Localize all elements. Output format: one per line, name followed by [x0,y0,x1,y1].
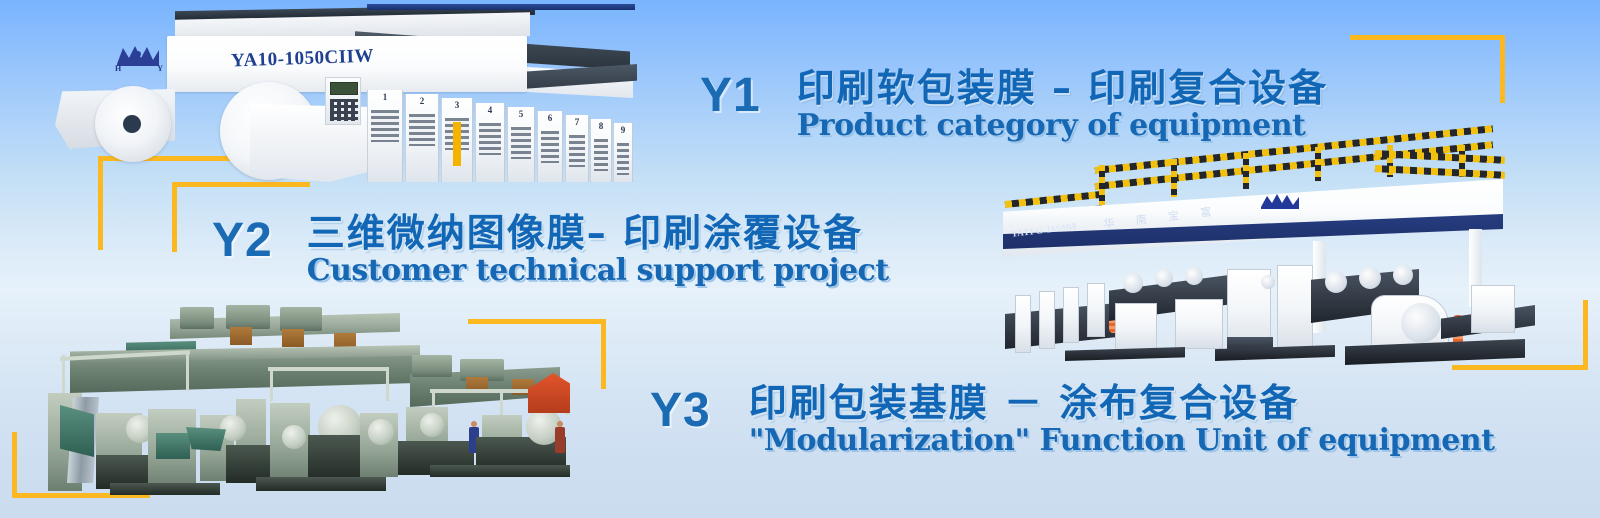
unit-panel [511,127,531,159]
entry-titles-y3: 印刷包装基膜 － 涂布复合设备 "Modularization" Functio… [749,381,1495,457]
line-guide-roller [1123,273,1143,293]
line-cabinet [1277,265,1313,351]
line3-hood [226,305,270,329]
line3-rail-post [500,389,503,415]
line3-coating-pan [156,433,190,459]
entry-title-en-y1: Product category of equipment [797,110,1328,142]
machine-gravure-printing-press: H Y YA10-1050CIIW 1 2 3 4 5 6 7 8 9 [55,4,630,179]
unit-number: 9 [614,125,632,135]
unit-number: 4 [476,105,504,115]
unit-panel [409,114,435,146]
railing-post [1171,159,1177,197]
line3-base [256,477,386,491]
press-colour-unit: 2 [405,94,439,182]
line-rewind-roll [1401,303,1441,343]
entry-title-cn-y3: 印刷包装基膜 － 涂布复合设备 [749,381,1495,425]
press-colour-unit: 8 [590,119,612,182]
unit-panel [569,135,585,167]
press-colour-unit: 9 [613,123,633,182]
unit-number: 8 [591,121,611,131]
line3-coating-pan [186,427,226,451]
line-nip-roller [1359,267,1381,289]
press-blue-stripe [367,4,635,10]
entry-title-cn-y2: 三维微纳图像膜– 印刷涂覆设备 [307,211,889,255]
line3-hood [280,307,322,331]
railing-post [1315,147,1321,181]
hy-brand-letters: H Y [115,64,163,73]
entry-title-en-y3: "Modularization" Function Unit of equipm… [749,425,1495,457]
line3-base [110,483,220,495]
brand-letter-h: H [115,64,121,73]
console-display [330,82,358,95]
machine-coating-laminating-line: YATFG-1650BⅡ 华 南 宝 富 [975,145,1520,370]
line3-catwalk-rail [268,367,388,371]
press-colour-unit: 7 [565,115,589,182]
press-colour-unit: 6 [537,111,563,182]
railing-post [1099,165,1105,205]
railing-post [1243,153,1249,189]
line-cabinet [1087,283,1105,337]
machine-base-film-coating-line [30,305,575,500]
press-colour-unit: 4 [475,103,505,182]
entry-code-y3: Y3 [650,385,711,437]
press-unwind-roll-rear [95,86,171,162]
entry-row-y2: Y2 三维微纳图像膜– 印刷涂覆设备 Customer technical su… [212,215,889,287]
entry-row-y3: Y3 印刷包装基膜 － 涂布复合设备 "Modularization" Func… [650,385,1494,457]
hy-brand-logo-icon [1260,192,1300,210]
line-applicator-roller [1261,275,1275,289]
unit-panel [594,139,608,171]
line-cabinet [1175,299,1223,349]
unit-number: 3 [442,100,472,110]
line-guide-roller [1155,269,1173,287]
unit-panel [617,143,629,175]
brand-letter-y: Y [157,64,163,73]
line3-base [430,465,570,477]
unit-number: 2 [406,96,438,106]
line3-roller [282,425,306,449]
entry-row-y1: Y1 印刷软包装膜 – 印刷复合设备 Product category of e… [700,70,1328,142]
bracket-top-right [1350,35,1505,103]
line3-hood [412,355,452,377]
entry-code-y2: Y2 [212,215,273,267]
line3-rail-post [386,367,389,401]
line-cabinet [1015,295,1031,353]
line3-heater-element [230,327,252,345]
operator-body [555,427,565,453]
line3-roller [368,419,394,445]
line-nip-roller [1325,271,1347,293]
unit-number: 7 [566,117,588,127]
entry-title-cn-y1: 印刷软包装膜 – 印刷复合设备 [797,66,1328,110]
press-colour-unit: 5 [507,107,535,182]
line3-rail-post [270,367,273,401]
line-outfeed-cabinet [1471,285,1515,333]
line-process-section [1005,241,1505,369]
promo-banner: H Y YA10-1050CIIW 1 2 3 4 5 6 7 8 9 [0,0,1600,518]
press-control-console [325,77,361,125]
press-colour-unit: 1 [367,90,403,182]
press-colour-unit-group: 1 2 3 4 5 6 7 8 9 [367,90,635,182]
line3-operator-figure [554,421,566,455]
line3-rail-post [62,355,65,393]
line-machine-base [1065,347,1185,361]
line3-roller [420,413,444,437]
entry-titles-y1: 印刷软包装膜 – 印刷复合设备 Product category of equi… [797,66,1328,142]
unit-number: 6 [538,113,562,123]
line-nip-roller [1393,265,1413,285]
line3-rail-post [186,351,189,391]
line-cabinet [1063,287,1079,343]
unit-number: 5 [508,109,534,119]
unit-panel [479,123,501,155]
entry-code-y1: Y1 [700,70,761,122]
entry-title-en-y2: Customer technical support project [307,255,889,287]
entry-titles-y2: 三维微纳图像膜– 印刷涂覆设备 Customer technical suppo… [307,211,889,287]
roll-hub [123,115,141,133]
safety-railing-right-2 [1375,165,1505,179]
press-safety-marker [453,122,461,166]
unit-panel [541,131,559,163]
line-cabinet [1039,291,1055,349]
line3-heater-element [282,329,304,347]
unit-panel [371,110,399,142]
line-cabinet [1115,303,1157,351]
console-keypad [330,99,358,121]
line3-hood [180,307,214,329]
unit-number: 1 [368,92,402,102]
line-guide-roller [1185,267,1203,285]
